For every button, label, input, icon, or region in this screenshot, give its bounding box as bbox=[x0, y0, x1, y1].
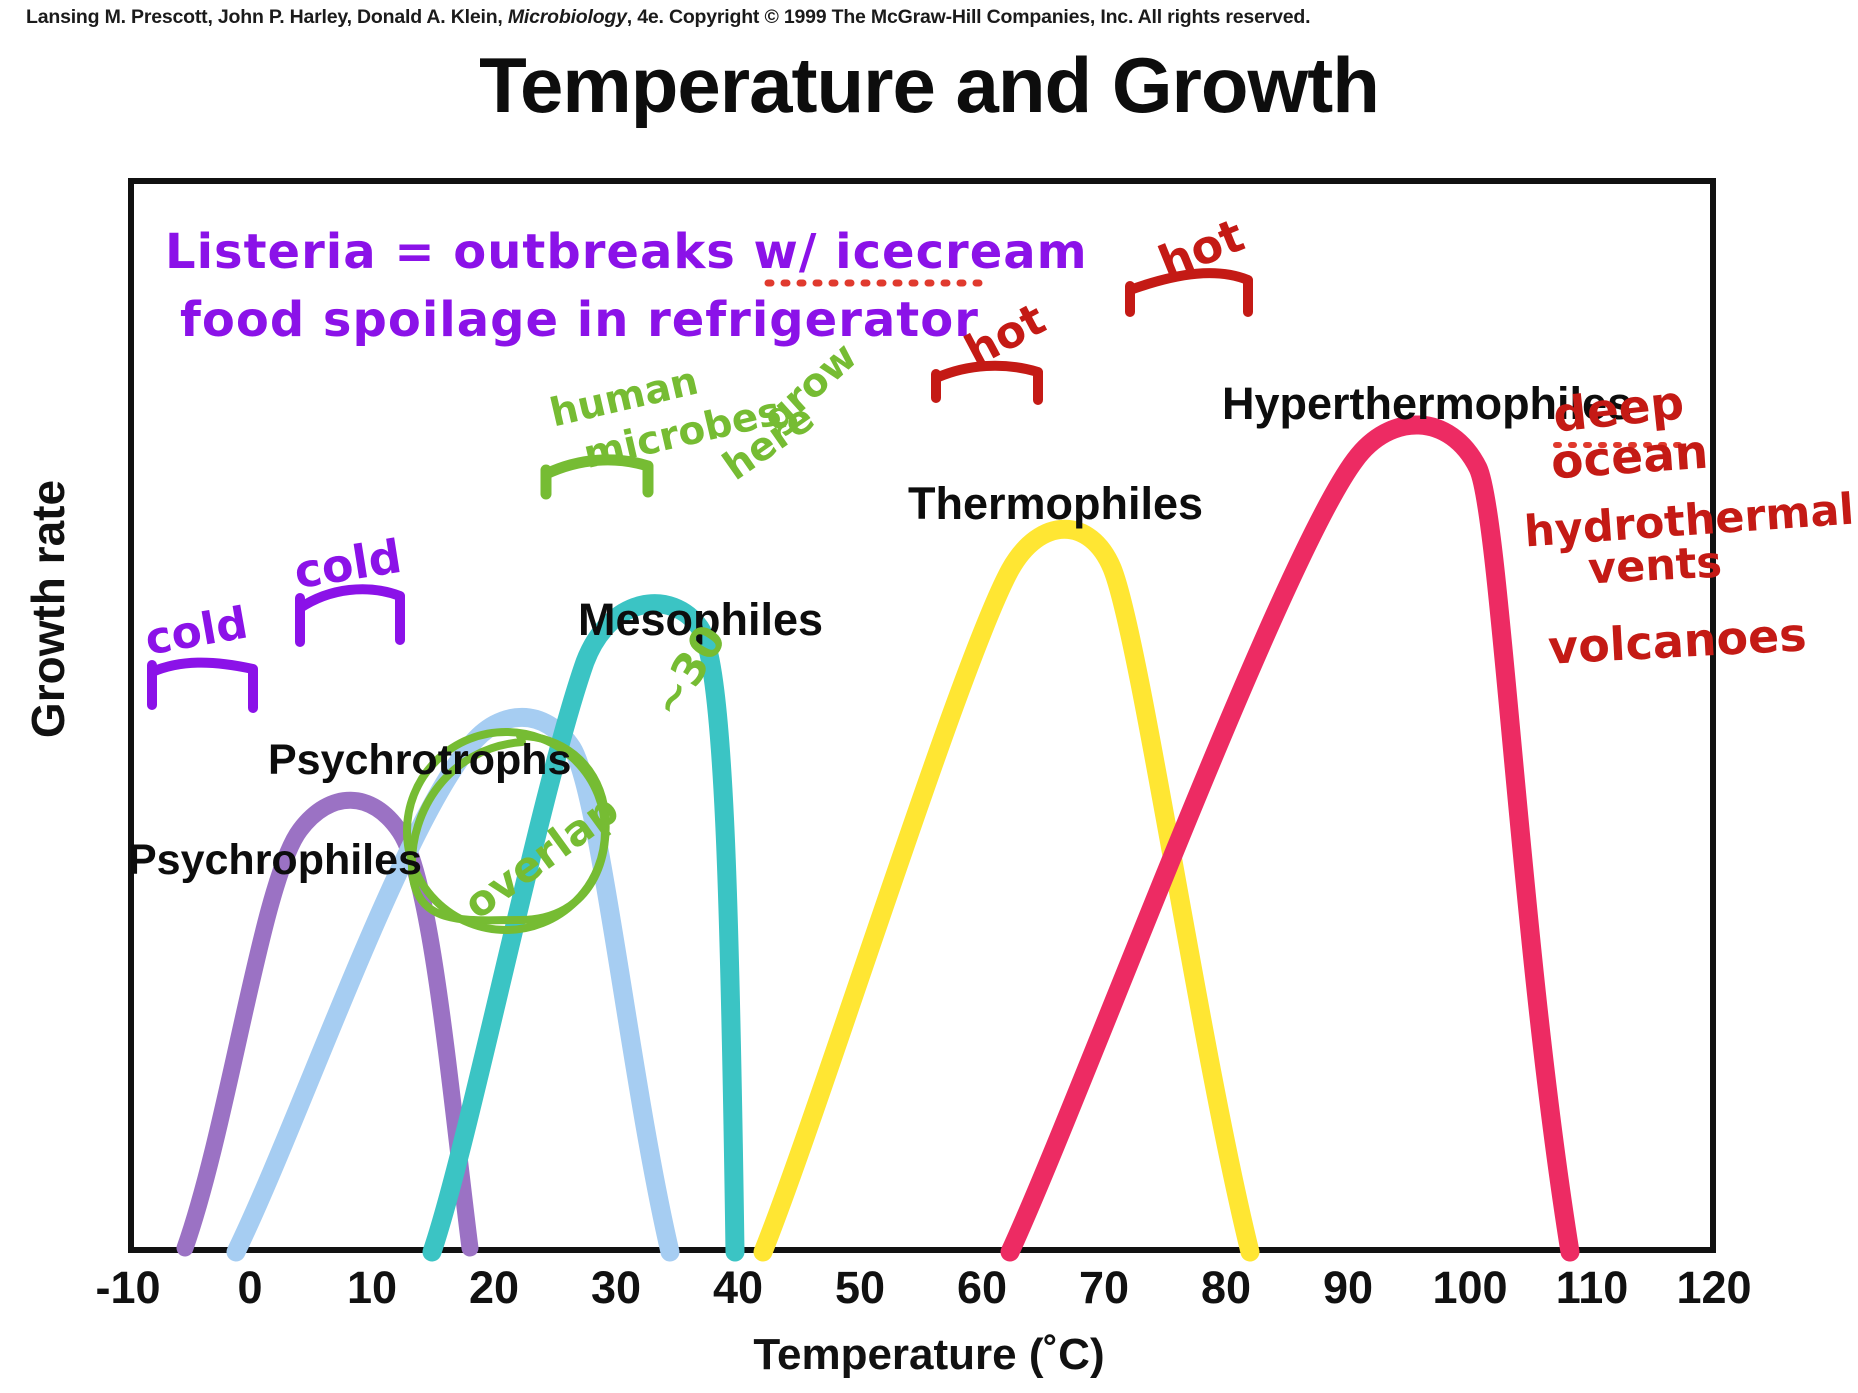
x-tick-0: 0 bbox=[237, 1262, 262, 1314]
annotation-vents: vents bbox=[1587, 538, 1723, 595]
label-psychrophiles: Psychrophiles bbox=[128, 836, 422, 885]
x-tick-10: 10 bbox=[347, 1262, 397, 1314]
label-thermophiles: Thermophiles bbox=[908, 478, 1203, 530]
x-axis-title: Temperature (˚C) bbox=[0, 1330, 1858, 1380]
annotation-listeria-line2: food spoilage in refrigerator bbox=[180, 292, 979, 348]
x-tick-30: 30 bbox=[591, 1262, 641, 1314]
label-psychrotrophs: Psychrotrophs bbox=[268, 736, 571, 785]
copyright-prefix: Lansing M. Prescott, John P. Harley, Don… bbox=[26, 6, 508, 28]
copyright-text: Lansing M. Prescott, John P. Harley, Don… bbox=[0, 6, 1310, 29]
x-tick-70: 70 bbox=[1079, 1262, 1129, 1314]
x-tick-120: 120 bbox=[1676, 1262, 1751, 1314]
copyright-italic: Microbiology bbox=[508, 6, 627, 28]
page-title: Temperature and Growth bbox=[0, 40, 1858, 131]
x-tick-40: 40 bbox=[713, 1262, 763, 1314]
x-tick-80: 80 bbox=[1201, 1262, 1251, 1314]
x-tick-110: 110 bbox=[1556, 1262, 1629, 1314]
x-tick-20: 20 bbox=[469, 1262, 519, 1314]
annotation-ocean: ocean bbox=[1549, 425, 1710, 491]
y-axis-title: Growth rate bbox=[21, 429, 75, 789]
x-tick-100: 100 bbox=[1432, 1262, 1507, 1314]
copyright-suffix: , 4e. Copyright © 1999 The McGraw-Hill C… bbox=[627, 6, 1311, 28]
x-tick-60: 60 bbox=[957, 1262, 1007, 1314]
x-tick--10: -10 bbox=[95, 1262, 160, 1314]
copyright-strip: Lansing M. Prescott, John P. Harley, Don… bbox=[0, 0, 1858, 34]
annotation-listeria-line1: Listeria = outbreaks w/ icecream bbox=[165, 224, 1088, 280]
x-tick-50: 50 bbox=[835, 1262, 885, 1314]
x-tick-90: 90 bbox=[1323, 1262, 1373, 1314]
